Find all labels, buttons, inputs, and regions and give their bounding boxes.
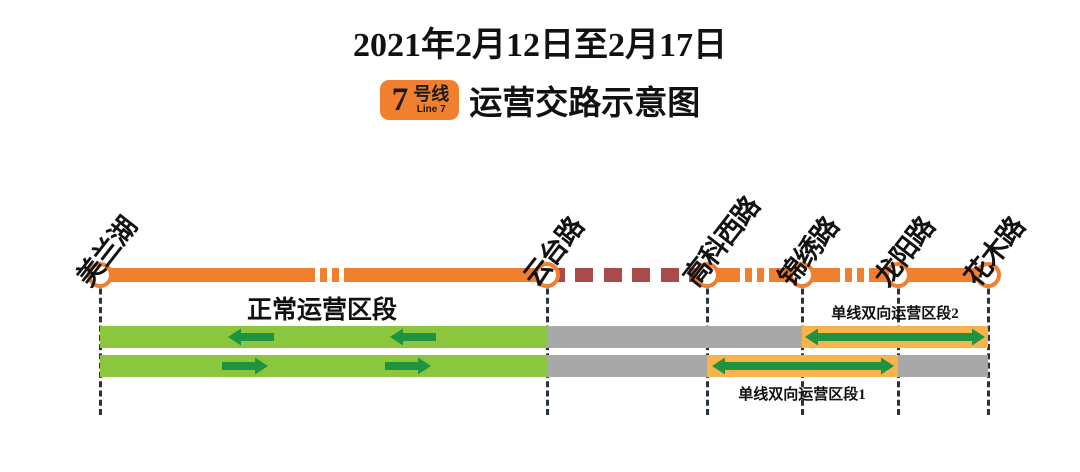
band-segment-normal [100, 355, 547, 377]
line-badge-cn: 号线 [413, 85, 449, 103]
line-badge-number: 7 [392, 84, 409, 117]
line7-operation-diagram: 2021年2月12日至2月17日 7 号线 Line 7 运营交路示意图 美兰湖… [0, 0, 1080, 472]
diagram-canvas: 美兰湖云台路高科西路锦绣路龙阳路花木路正常运营区段单线双向运营区段2单线双向运营… [0, 140, 1080, 472]
caption-single2: 单线双向运营区段2 [355, 302, 1080, 323]
band-segment-closed [547, 355, 707, 377]
band-segment-normal [100, 326, 547, 348]
page-title: 运营交路示意图 [469, 76, 700, 124]
band-segment-closed [547, 326, 802, 348]
track-break-marks [315, 268, 351, 282]
header: 2021年2月12日至2月17日 7 号线 Line 7 运营交路示意图 [0, 0, 1080, 124]
track-dash [604, 268, 622, 282]
line-badge: 7 号线 Line 7 [380, 80, 460, 120]
operation-band-upper [0, 326, 1080, 348]
band-segment-closed [898, 355, 988, 377]
page-date-range: 2021年2月12日至2月17日 [0, 26, 1080, 66]
track-dash [632, 268, 650, 282]
line-badge-en: Line 7 [417, 105, 446, 115]
track-dash [575, 268, 593, 282]
title-row: 7 号线 Line 7 运营交路示意图 [0, 76, 1080, 124]
operation-band-lower [0, 355, 1080, 377]
caption-single1: 单线双向运营区段1 [262, 383, 1080, 404]
line-badge-text: 号线 Line 7 [413, 85, 449, 115]
